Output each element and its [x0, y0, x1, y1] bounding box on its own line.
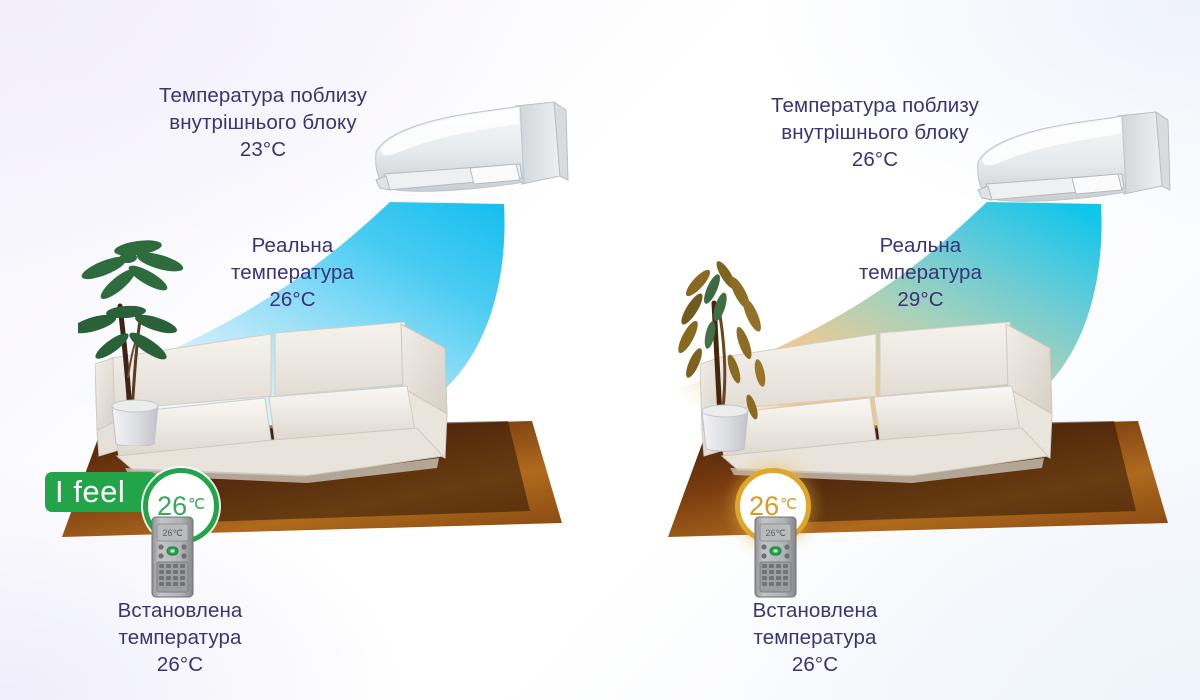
remote-screen-temperature: 26℃ — [765, 528, 785, 538]
ifeel-label: I feel — [45, 472, 157, 512]
panel-ifeel-on: Температура поблизу внутрішнього блоку 2… — [0, 0, 600, 700]
unit-temperature-label: Температура поблизу внутрішнього блоку 2… — [655, 92, 1095, 173]
set-temperature-label: Встановлена температура 26°C — [15, 597, 345, 678]
infographic-canvas: Температура поблизу внутрішнього блоку 2… — [0, 0, 1200, 700]
panel-ifeel-off: Температура поблизу внутрішнього блоку 2… — [600, 0, 1200, 700]
unit-temperature-label: Температура поблизу внутрішнього блоку 2… — [38, 82, 488, 163]
set-temperature-label: Встановлена температура 26°C — [650, 597, 980, 678]
remote-screen-temperature: 26℃ — [162, 528, 182, 538]
real-temperature-label: Реальна температура 26°C — [140, 232, 445, 313]
remote-control[interactable]: 26℃ — [748, 516, 804, 603]
remote-control[interactable]: 26℃ — [145, 516, 201, 603]
real-temperature-label: Реальна температура 29°C — [768, 232, 1073, 313]
